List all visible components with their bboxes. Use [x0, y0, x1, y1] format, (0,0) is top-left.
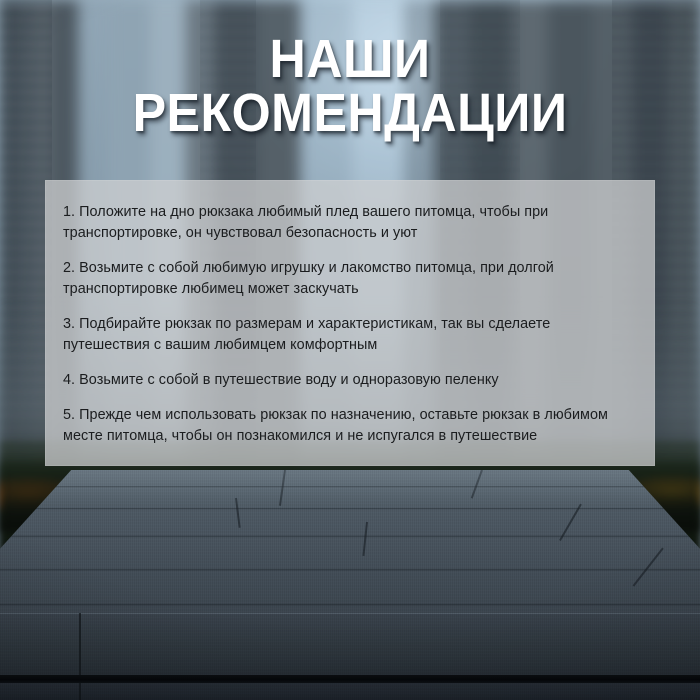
- list-item: 1. Положите на дно рюкзака любимый плед …: [63, 202, 635, 244]
- recommendations-list: 1. Положите на дно рюкзака любимый плед …: [63, 202, 635, 447]
- list-item: 4. Возьмите с собой в путешествие воду и…: [63, 370, 635, 391]
- page-title: НАШИ РЕКОМЕНДАЦИИ: [0, 34, 700, 140]
- title-line-secondary: РЕКОМЕНДАЦИИ: [25, 88, 676, 140]
- promo-poster: НАШИ РЕКОМЕНДАЦИИ 1. Положите на дно рюк…: [0, 0, 700, 700]
- platform-face-seam: [79, 613, 81, 675]
- recommendations-panel: 1. Положите на дно рюкзака любимый плед …: [45, 180, 655, 466]
- platform-face-grain: [0, 613, 700, 675]
- title-line-primary: НАШИ: [25, 34, 676, 86]
- platform-base-block: [0, 683, 700, 700]
- platform-shadow-gap: [0, 675, 700, 683]
- list-item: 5. Прежде чем использовать рюкзак по наз…: [63, 405, 635, 447]
- list-item: 2. Возьмите с собой любимую игрушку и ла…: [63, 258, 635, 300]
- platform-granite-grain: [0, 470, 700, 615]
- platform-top-surface: [0, 470, 700, 615]
- list-item: 3. Подбирайте рюкзак по размерам и харак…: [63, 314, 635, 356]
- stone-platform: [0, 470, 700, 700]
- platform-base-seam: [79, 683, 81, 700]
- platform-base-grain: [0, 683, 700, 700]
- platform-front-face: [0, 613, 700, 675]
